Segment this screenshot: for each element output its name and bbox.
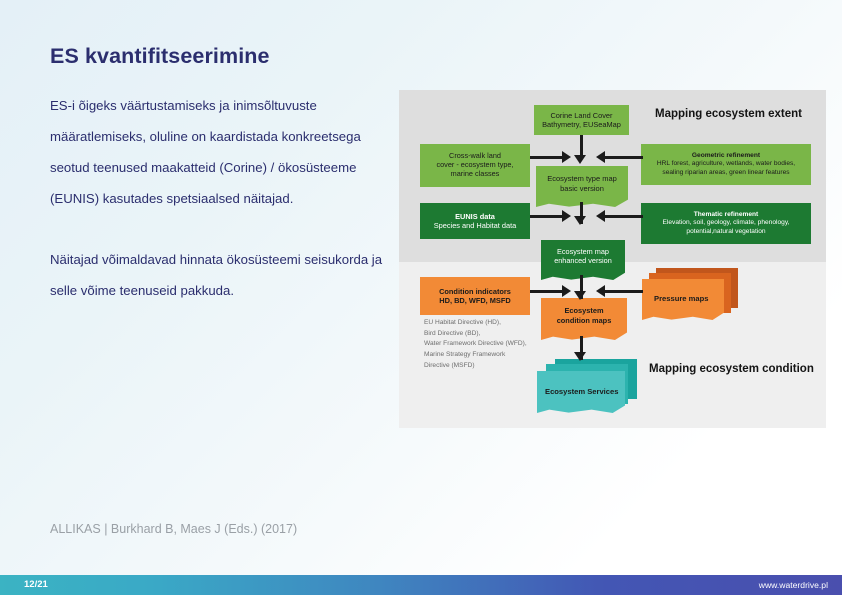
node-corine-land-cover: Corine Land Cover Bathymetry, EUSeaMap <box>534 105 629 135</box>
node-ecotypemap-line1: Ecosystem type map <box>547 174 617 183</box>
node-ecotypemap-line2: basic version <box>560 184 604 193</box>
body-paragraph-2: Näitajad võimaldavad hinnata ökosüsteemi… <box>50 244 395 306</box>
arrow-condind-to-center <box>530 290 564 293</box>
arrowhead-eunis-to-center <box>562 210 571 222</box>
note-line-3: Water Framework Directive (WFD), <box>424 339 564 350</box>
node-condind-line1: Condition indicators <box>439 287 511 296</box>
node-condind-line2: HD, BD, WFD, MSFD <box>439 296 510 305</box>
source-citation: ALLIKAS | Burkhard B, Maes J (Eds.) (201… <box>50 522 297 536</box>
slide: ES kvantifitseerimine ES-i õigeks väärtu… <box>0 0 842 595</box>
arrowhead-condind-to-center <box>562 285 571 297</box>
node-eunis-data: EUNIS data Species and Habitat data <box>420 203 530 239</box>
node-condition-indicators: Condition indicators HD, BD, WFD, MSFD <box>420 277 530 315</box>
ecosystem-mapping-diagram: Mapping ecosystem extent Mapping ecosyst… <box>399 90 826 428</box>
arrowhead-corine-to-ecotypemap <box>574 155 586 164</box>
node-cross-walk-land-cover: Cross-walk land cover - ecosystem type, … <box>420 144 530 187</box>
node-eunis-line1: EUNIS data <box>455 212 495 221</box>
pressure-maps-label: Pressure maps <box>654 294 708 303</box>
arrowhead-thematic-to-center <box>596 210 605 222</box>
node-geometric-refinement: Geometric refinement HRL forest, agricul… <box>641 144 811 185</box>
node-geometric-line2: HRL forest, agriculture, wetlands, water… <box>657 160 795 168</box>
arrowhead-ecocond-to-ecoservices <box>574 352 586 361</box>
arrow-corine-to-ecotypemap <box>580 135 583 157</box>
arrowhead-pressure-to-center <box>596 285 605 297</box>
node-crosswalk-line3: marine classes <box>451 170 500 179</box>
arrow-crosswalk-to-center <box>530 156 564 159</box>
node-pressure-maps: Pressure maps <box>642 268 738 320</box>
heading-mapping-ecosystem-condition: Mapping ecosystem condition <box>649 363 814 375</box>
ecosystem-services-label: Ecosystem Services <box>545 387 618 396</box>
node-thematic-line1: Thematic refinement <box>694 211 759 219</box>
node-ecosystem-map-enhanced: Ecosystem map enhanced version <box>541 240 625 280</box>
body-paragraph-1: ES-i õigeks väärtustamiseks ja inimsõltu… <box>50 90 395 214</box>
node-thematic-line3: potential,natural vegetation <box>686 228 765 236</box>
body-text: ES-i õigeks väärtustamiseks ja inimsõltu… <box>50 90 395 306</box>
footer-url[interactable]: www.waterdrive.pl <box>759 580 828 590</box>
node-ecocond-line1: Ecosystem <box>564 306 603 315</box>
node-thematic-refinement: Thematic refinement Elevation, soil, geo… <box>641 203 811 244</box>
node-thematic-line2: Elevation, soil, geology, climate, pheno… <box>663 219 790 227</box>
node-eunis-line2: Species and Habitat data <box>434 221 517 230</box>
arrow-thematic-to-center <box>601 215 643 218</box>
node-corine-line2: Bathymetry, EUSeaMap <box>542 120 621 129</box>
page-number: 12/21 <box>24 579 48 590</box>
arrow-geometric-to-center <box>601 156 643 159</box>
footer-bar: 12/21 www.waterdrive.pl <box>0 575 842 595</box>
node-ecocond-line2: condition maps <box>557 316 612 325</box>
arrow-pressure-to-center <box>601 290 643 293</box>
arrowhead-ecomapenh-to-ecocond <box>574 291 586 300</box>
node-ecosystem-services: Ecosystem Services <box>537 359 637 413</box>
node-geometric-line1: Geometric refinement <box>692 152 760 160</box>
node-ecosystem-condition-maps: Ecosystem condition maps <box>541 298 627 340</box>
arrowhead-geometric-to-center <box>596 151 605 163</box>
arrowhead-ecotypemap-to-ecomapenh <box>574 216 586 225</box>
heading-mapping-ecosystem-extent: Mapping ecosystem extent <box>655 108 802 120</box>
arrow-eunis-to-center <box>530 215 564 218</box>
page-title: ES kvantifitseerimine <box>50 44 270 69</box>
arrowhead-crosswalk-to-center <box>562 151 571 163</box>
node-ecomapenh-line2: enhanced version <box>554 257 612 266</box>
node-ecosystem-type-map-basic: Ecosystem type map basic version <box>536 166 628 207</box>
node-geometric-line3: sealing riparian areas, green linear fea… <box>662 169 789 177</box>
node-corine-line1: Corine Land Cover <box>550 111 612 120</box>
